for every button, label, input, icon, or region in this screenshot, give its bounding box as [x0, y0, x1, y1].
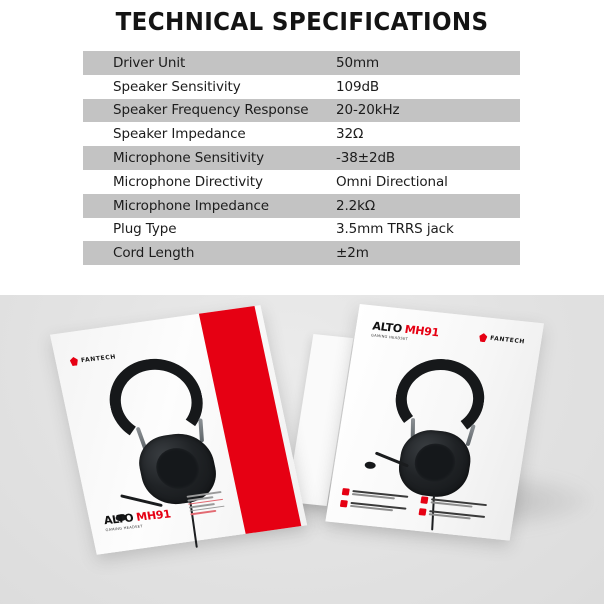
product-detail-page: TECHNICAL SPECIFICATIONS Driver Unit50mm…	[0, 0, 604, 604]
spec-value: Omni Directional	[336, 174, 520, 190]
copy-line	[190, 510, 216, 515]
feature-text	[352, 489, 414, 502]
feature-number-badge	[418, 508, 426, 516]
spec-value: 109dB	[336, 79, 520, 95]
table-row: Speaker Impedance32Ω	[83, 122, 520, 146]
alto-badge-right: ALTO MH91 GAMING HEADSET	[371, 320, 440, 345]
fantech-logo-right: FANTECH	[478, 333, 525, 347]
fantech-wordmark: FANTECH	[490, 335, 526, 346]
feature-item	[418, 508, 490, 522]
table-row: Speaker Frequency Response20-20kHz	[83, 99, 520, 123]
spec-value: 50mm	[336, 55, 520, 71]
feature-text	[430, 497, 492, 510]
table-row: Speaker Sensitivity109dB	[83, 75, 520, 99]
spec-value: 2.2kΩ	[336, 198, 520, 214]
spec-value: ±2m	[336, 245, 520, 261]
fantech-mark-icon	[69, 357, 79, 367]
spec-label: Cord Length	[83, 245, 336, 261]
feature-text	[428, 509, 490, 522]
spec-value: 3.5mm TRRS jack	[336, 221, 520, 237]
specifications-table: Driver Unit50mmSpeaker Sensitivity109dBS…	[83, 51, 520, 265]
feature-number-badge	[420, 496, 428, 504]
spec-value: -38±2dB	[336, 150, 520, 166]
alto-badge-left: ALTO MH91 GAMING HEADSET	[103, 507, 173, 532]
spec-value: 32Ω	[336, 126, 520, 142]
table-row: Driver Unit50mm	[83, 51, 520, 75]
headset-fork-right	[198, 418, 204, 442]
feature-number-badge	[340, 500, 348, 508]
table-row: Plug Type3.5mm TRRS jack	[83, 218, 520, 242]
spec-label: Driver Unit	[83, 55, 336, 71]
spec-value: 20-20kHz	[336, 102, 520, 118]
fantech-logo-left: FANTECH	[69, 353, 116, 367]
spec-label: Microphone Sensitivity	[83, 150, 336, 166]
headset-headband	[102, 353, 211, 450]
fantech-mark-icon	[478, 333, 487, 343]
spec-label: Plug Type	[83, 221, 336, 237]
table-row: Cord Length±2m	[83, 241, 520, 265]
table-row: Microphone Impedance2.2kΩ	[83, 194, 520, 218]
feature-number-badge	[342, 488, 350, 496]
spec-label: Speaker Sensitivity	[83, 79, 336, 95]
headset-microphone	[364, 461, 376, 469]
feature-text	[350, 501, 412, 514]
spec-label: Speaker Impedance	[83, 126, 336, 142]
product-photo-panel: FANTECH	[0, 295, 604, 604]
product-box-right: ALTO MH91 GAMING HEADSET FANTECH	[325, 304, 544, 541]
table-row: Microphone DirectivityOmni Directional	[83, 170, 520, 194]
headset-headband	[390, 355, 490, 443]
feature-item	[340, 500, 412, 514]
headset-earcup-inner	[412, 442, 457, 484]
fantech-wordmark: FANTECH	[80, 354, 116, 365]
headset-earcup-inner	[153, 445, 203, 490]
table-row: Microphone Sensitivity-38±2dB	[83, 146, 520, 170]
spec-label: Speaker Frequency Response	[83, 102, 336, 118]
spec-label: Microphone Directivity	[83, 174, 336, 190]
page-title: TECHNICAL SPECIFICATIONS	[24, 7, 580, 37]
spec-label: Microphone Impedance	[83, 198, 336, 214]
